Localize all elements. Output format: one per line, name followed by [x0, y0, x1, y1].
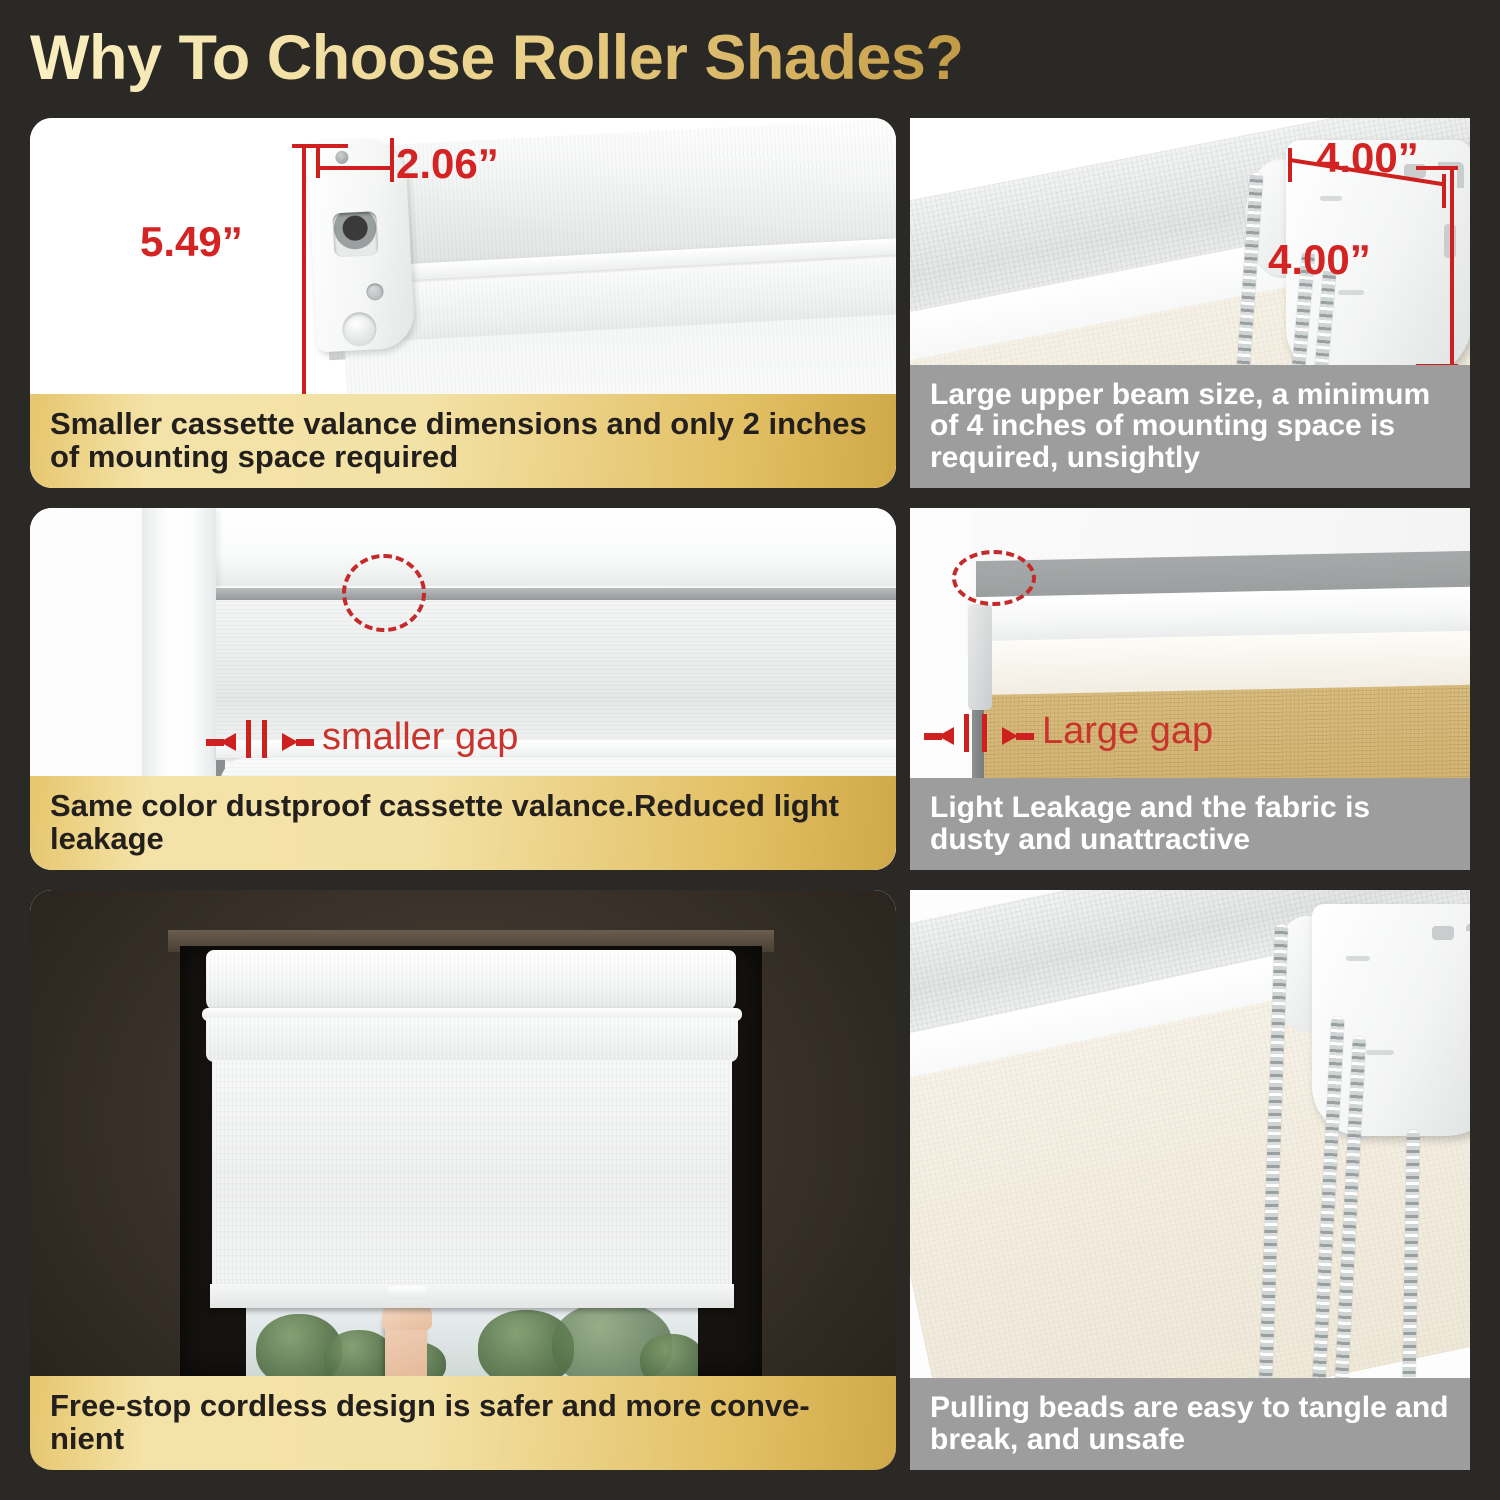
- bracket-knob-icon: [342, 311, 378, 347]
- highlight-circle: [342, 554, 426, 632]
- gap-arrow-left-stem: [206, 739, 224, 746]
- width-dim-tick-right: [390, 138, 394, 182]
- caption-light-leakage: Light Leakage and the fabric is dusty an…: [910, 778, 1470, 870]
- bottom-rail: [210, 1284, 734, 1308]
- beam-width-tick-right: [1442, 174, 1446, 208]
- beam-height-dim-line: [1450, 168, 1454, 368]
- caption-free-stop-cordless: Free-stop cordless design is safer and m…: [30, 1376, 896, 1470]
- caption-cassette-valance-dimensions: Smaller cassette valance dimensions and …: [30, 394, 896, 488]
- beam-end-bracket: [968, 604, 992, 710]
- gap-arrow-right-stem: [1016, 733, 1034, 740]
- panel-light-leakage: Large gap Light Leakage and the fabric i…: [910, 508, 1470, 870]
- window-frame-top: [180, 508, 896, 586]
- top-screw-icon: [335, 151, 349, 165]
- width-dim-line: [318, 166, 394, 170]
- bracket-screw-icon: [366, 283, 384, 301]
- beam-height-label: 4.00”: [1268, 236, 1371, 284]
- large-gap-label: Large gap: [1042, 710, 1213, 753]
- gap-tick-right: [982, 714, 987, 752]
- panel-free-stop-cordless: Free-stop cordless design is safer and m…: [30, 890, 896, 1470]
- beam-height-tick-top: [1416, 166, 1458, 170]
- shade-fabric: [212, 1060, 732, 1292]
- panel-cassette-valance-dimensions: 2.06” 5.49” Smaller cassette valance dim…: [30, 118, 896, 488]
- height-dim-tick-top: [292, 144, 348, 148]
- caption-pulling-beads: Pulling beads are easy to tangle and bre…: [910, 1378, 1470, 1470]
- bracket-arrow-icon-2: [1366, 1050, 1394, 1055]
- bracket-arrow-icon: [1346, 956, 1370, 961]
- gap-tick-left: [964, 714, 969, 752]
- cassette-headrail: [206, 950, 736, 1012]
- infographic-page: Why To Choose Roller Shades?: [0, 0, 1500, 1500]
- smaller-gap-label: smaller gap: [322, 716, 518, 759]
- bracket-slot-icon: [1432, 926, 1454, 940]
- width-dimension-label: 2.06”: [396, 140, 499, 188]
- outdoor-view: [246, 1308, 698, 1380]
- height-dimension-label: 5.49”: [140, 218, 243, 266]
- panel-pulling-beads: Pulling beads are easy to tangle and bre…: [910, 890, 1470, 1470]
- panel-dustproof-cassette-valance: smaller gap Same color dustproof cassett…: [30, 508, 896, 870]
- bracket-notch-icon: [1466, 924, 1470, 950]
- pull-tab: [388, 1286, 426, 1299]
- caption-large-upper-beam: Large upper beam size, a minimum of 4 in…: [910, 365, 1470, 488]
- bracket-socket-icon: [332, 211, 378, 257]
- caption-dustproof-cassette-valance: Same color dustproof cassette valance.Re…: [30, 776, 896, 870]
- fabric-roll: [206, 1018, 738, 1062]
- tree-icon: [324, 1330, 394, 1380]
- bracket-arrow-icon-2: [1338, 290, 1364, 295]
- gap-arrow-left-stem: [924, 733, 942, 740]
- gap-tick-right: [262, 720, 267, 758]
- tree-icon: [640, 1334, 698, 1380]
- valance-face-band: [216, 600, 896, 742]
- panel-large-upper-beam: 4.00” 4.00” Large upper beam size, a min…: [910, 118, 1470, 488]
- panel-grid: 2.06” 5.49” Smaller cassette valance dim…: [0, 0, 1500, 1500]
- valance-lower-lip: [216, 740, 896, 758]
- width-dim-tick-left: [316, 144, 320, 178]
- beam-width-tick-left: [1288, 148, 1292, 182]
- gap-tick-left: [246, 720, 251, 758]
- highlight-circle: [952, 550, 1036, 606]
- beam-width-label: 4.00”: [1316, 134, 1419, 182]
- bracket-arrow-icon: [1320, 196, 1342, 201]
- gap-arrow-right-stem: [296, 739, 314, 746]
